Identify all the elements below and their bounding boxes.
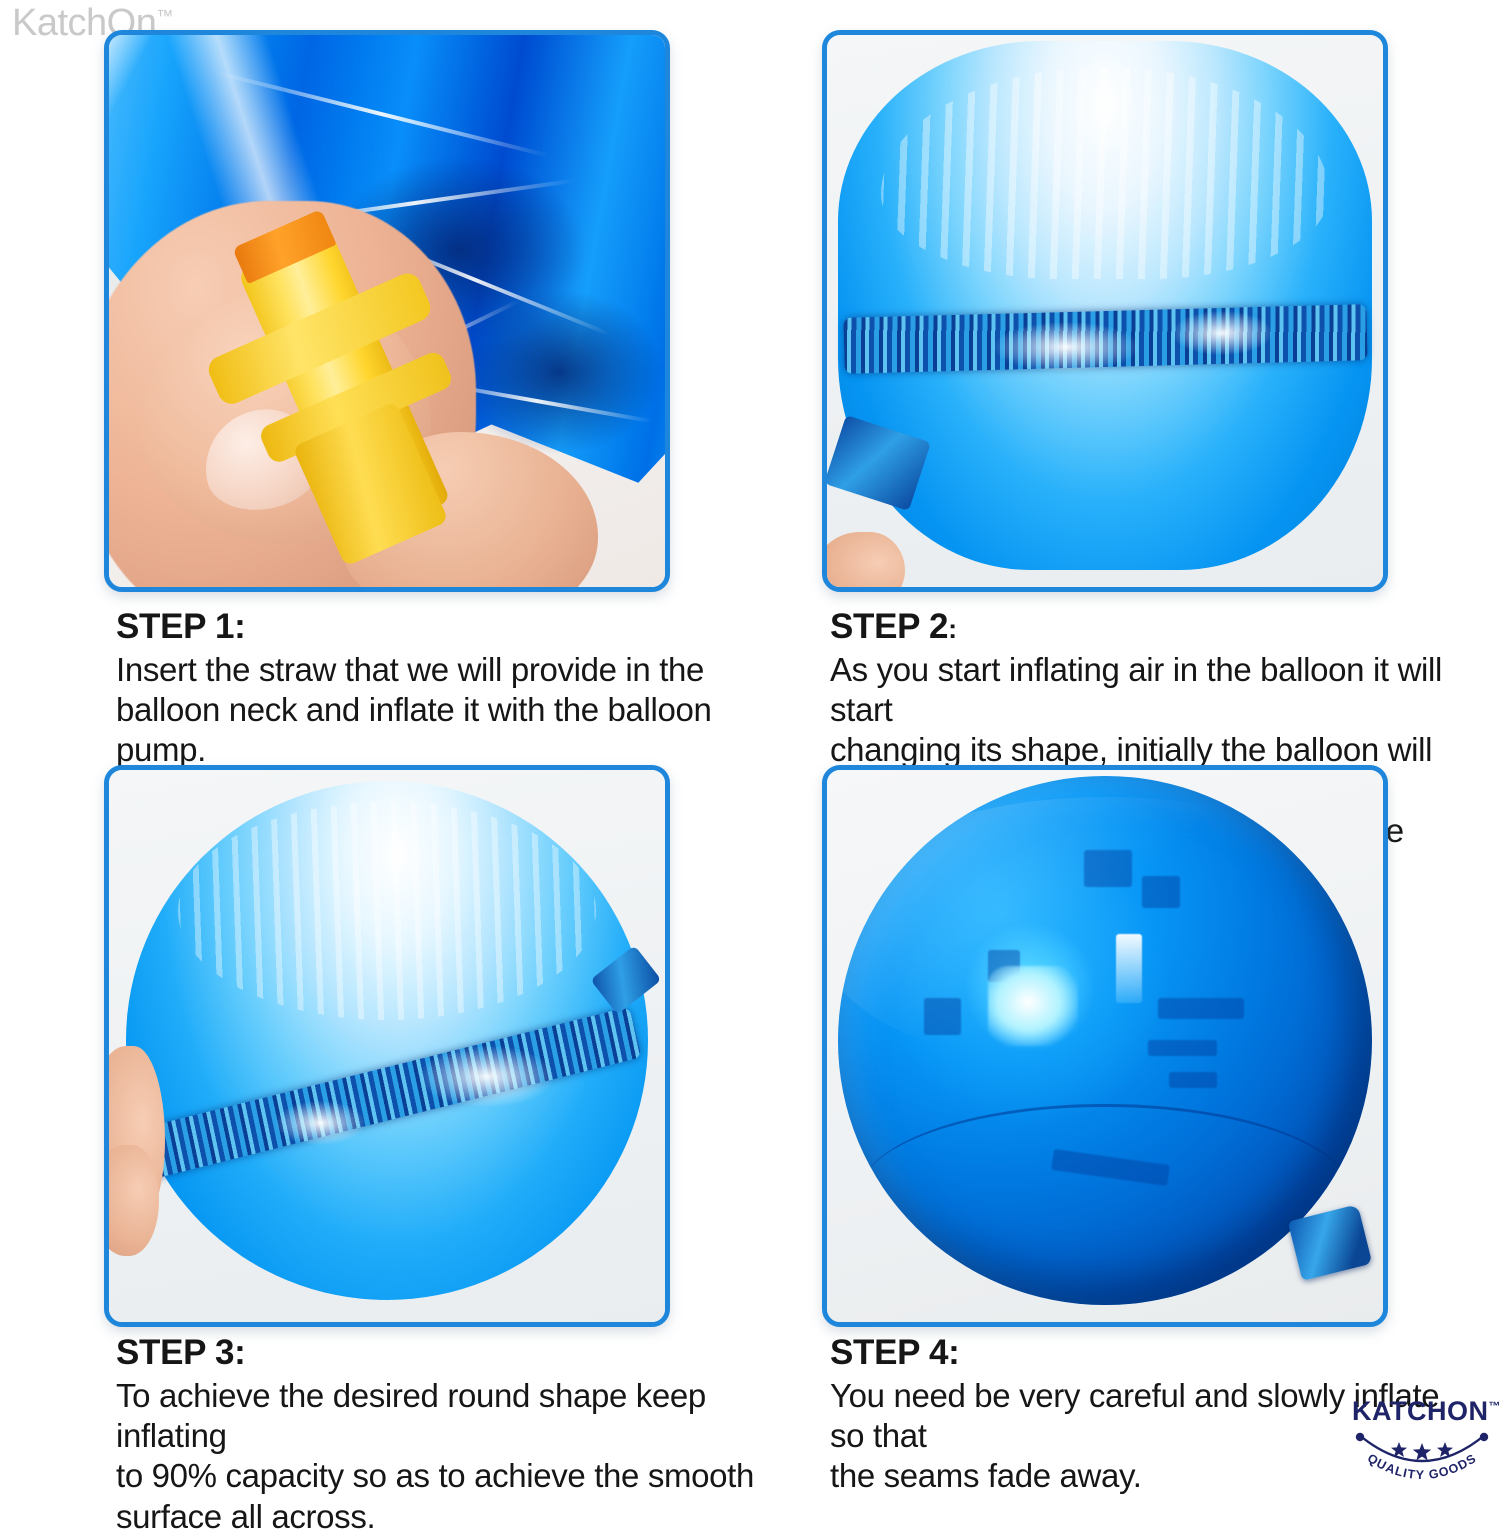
step-1-cell <box>104 30 670 592</box>
step-2-cell <box>822 30 1388 592</box>
instruction-sheet: STEP 1: Insert the straw that we will pr… <box>0 0 1500 1495</box>
badge-tm: ™ <box>1488 1399 1500 1413</box>
step-4-photo <box>822 765 1388 1327</box>
step-1-photo <box>104 30 670 592</box>
badge-wordmark: KATCHON™ <box>1352 1398 1492 1425</box>
step-2-photo <box>822 30 1388 592</box>
step-3-body: To achieve the desired round shape keep … <box>116 1376 776 1537</box>
step-1-caption: STEP 1: Insert the straw that we will pr… <box>116 608 776 771</box>
step-1-body: Insert the straw that we will provide in… <box>116 650 776 771</box>
step-2-heading: STEP 2: <box>830 608 1495 646</box>
badge-arc-graphic: QUALITY GOODS <box>1352 1426 1492 1488</box>
badge-star <box>1413 1443 1431 1460</box>
badge-dot-left <box>1356 1433 1364 1441</box>
step-3-cell <box>104 765 670 1327</box>
step-3-photo <box>104 765 670 1327</box>
step-4-heading: STEP 4: <box>830 1334 1470 1372</box>
step-4-cell <box>822 765 1388 1327</box>
step-1-heading: STEP 1: <box>116 608 776 646</box>
step-3-caption: STEP 3: To achieve the desired round sha… <box>116 1334 776 1537</box>
katchon-brand-badge: KATCHON™ QUALITY GOODS <box>1352 1398 1492 1490</box>
step-3-heading: STEP 3: <box>116 1334 776 1372</box>
step-2-heading-colon: : <box>948 614 957 644</box>
step-2-heading-text: STEP 2 <box>830 607 948 646</box>
badge-dot-right <box>1480 1433 1488 1441</box>
badge-word-text: KATCHON <box>1352 1396 1488 1426</box>
